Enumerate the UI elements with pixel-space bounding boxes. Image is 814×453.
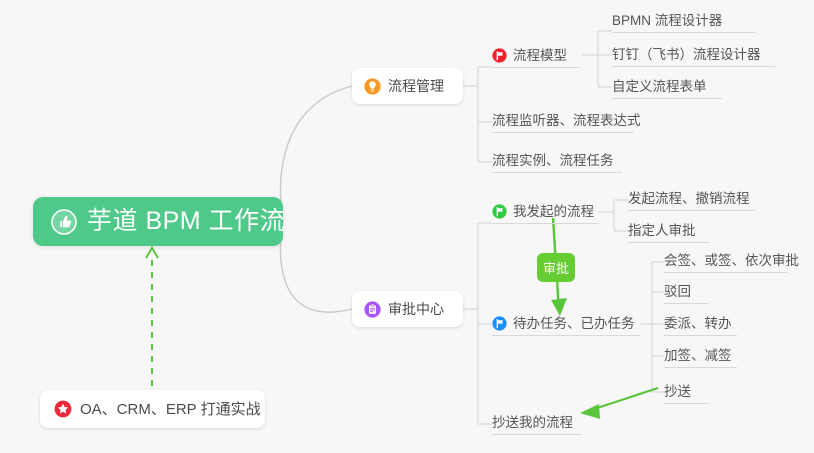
node-label-start-cancel-process: 发起流程、撤销流程 bbox=[628, 192, 750, 207]
node-start-cancel-process[interactable]: 发起流程、撤销流程 bbox=[628, 188, 755, 211]
node-listener-expression[interactable]: 流程监听器、流程表达式 bbox=[492, 110, 634, 133]
link-process-management-spine bbox=[463, 67, 492, 162]
node-label-reject: 驳回 bbox=[664, 285, 691, 300]
mindmap-canvas: 芋道 BPM 工作流 OA、CRM、ERP 打通实战 流程管理 bbox=[0, 0, 814, 453]
link-process-model-spine bbox=[582, 31, 612, 87]
link-cc-to-my-cc-arrow bbox=[585, 388, 658, 412]
approval-chip-label: 审批 bbox=[543, 258, 569, 277]
node-bpmn-designer[interactable]: BPMN 流程设计器 bbox=[612, 10, 756, 33]
link-todo-done-spine bbox=[640, 262, 664, 392]
node-process-model[interactable]: 流程模型 bbox=[492, 44, 580, 68]
flag-blue-icon bbox=[492, 316, 507, 331]
node-label-todo-done-tasks: 待办任务、已办任务 bbox=[513, 317, 635, 332]
node-cc-to-me[interactable]: 抄送我的流程 bbox=[492, 412, 582, 435]
node-label-dingtalk-feishu-designer: 钉钉（飞书）流程设计器 bbox=[612, 48, 761, 63]
node-custom-process-form[interactable]: 自定义流程表单 bbox=[612, 76, 722, 99]
lightbulb-icon bbox=[364, 78, 381, 95]
branch-label-process-management: 流程管理 bbox=[388, 79, 444, 93]
node-label-process-model: 流程模型 bbox=[513, 49, 567, 64]
node-todo-done-tasks[interactable]: 待办任务、已办任务 bbox=[492, 312, 640, 336]
node-label-countersign: 会签、或签、依次审批 bbox=[664, 254, 799, 269]
node-delegate-transfer[interactable]: 委派、转办 bbox=[664, 313, 737, 336]
link-root-to-approval-center bbox=[280, 221, 352, 312]
node-assignee-approval[interactable]: 指定人审批 bbox=[628, 220, 710, 243]
branch-node-process-management[interactable]: 流程管理 bbox=[352, 68, 463, 104]
node-label-cc-to-me: 抄送我的流程 bbox=[492, 416, 573, 431]
clipboard-icon bbox=[364, 301, 381, 318]
node-dingtalk-feishu-designer[interactable]: 钉钉（飞书）流程设计器 bbox=[612, 44, 775, 67]
node-label-bpmn-designer: BPMN 流程设计器 bbox=[612, 14, 722, 29]
star-icon bbox=[54, 400, 72, 418]
node-label-my-initiated: 我发起的流程 bbox=[513, 205, 594, 220]
footnote-node[interactable]: OA、CRM、ERP 打通实战 bbox=[40, 390, 265, 428]
node-carbon-copy[interactable]: 抄送 bbox=[664, 381, 709, 404]
node-label-carbon-copy: 抄送 bbox=[664, 385, 691, 400]
branch-label-approval-center: 审批中心 bbox=[388, 302, 444, 316]
thumbs-up-icon bbox=[51, 209, 77, 235]
node-countersign[interactable]: 会签、或签、依次审批 bbox=[664, 250, 788, 273]
flag-red-icon bbox=[492, 48, 507, 63]
node-label-custom-process-form: 自定义流程表单 bbox=[612, 80, 707, 95]
node-label-listener-expression: 流程监听器、流程表达式 bbox=[492, 114, 641, 129]
arrowhead-footnote-to-root bbox=[146, 248, 158, 258]
link-approval-center-spine bbox=[463, 223, 492, 424]
link-my-initiated-spine bbox=[598, 200, 628, 231]
node-my-initiated[interactable]: 我发起的流程 bbox=[492, 200, 598, 224]
flag-green-icon bbox=[492, 204, 507, 219]
node-label-delegate-transfer: 委派、转办 bbox=[664, 317, 732, 332]
node-label-add-remove-sign: 加签、减签 bbox=[664, 349, 732, 364]
root-node[interactable]: 芋道 BPM 工作流 bbox=[33, 197, 283, 246]
branch-node-approval-center[interactable]: 审批中心 bbox=[352, 291, 463, 327]
approval-chip[interactable]: 审批 bbox=[537, 253, 575, 282]
link-root-to-process-management bbox=[280, 86, 352, 221]
node-add-remove-sign[interactable]: 加签、减签 bbox=[664, 345, 737, 368]
footnote-node-label: OA、CRM、ERP 打通实战 bbox=[80, 402, 261, 417]
arrowhead-cc-to-my-cc bbox=[580, 404, 600, 419]
root-node-label: 芋道 BPM 工作流 bbox=[87, 209, 285, 234]
node-label-instance-task: 流程实例、流程任务 bbox=[492, 154, 614, 169]
node-instance-task[interactable]: 流程实例、流程任务 bbox=[492, 150, 622, 173]
node-label-assignee-approval: 指定人审批 bbox=[628, 224, 696, 239]
node-reject[interactable]: 驳回 bbox=[664, 281, 709, 304]
